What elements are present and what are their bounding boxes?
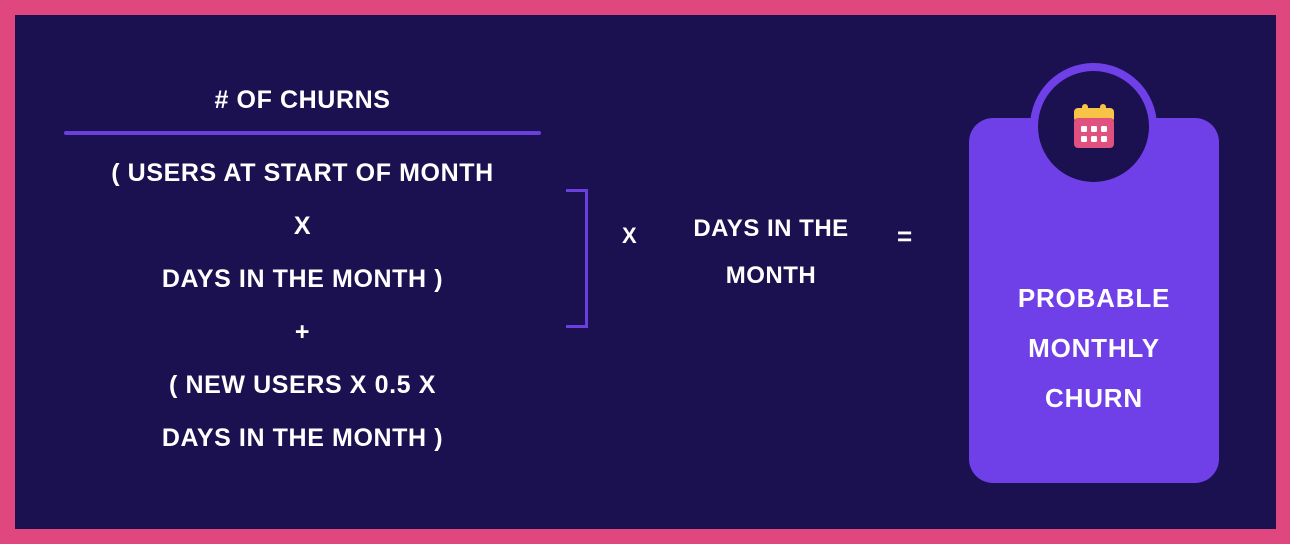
calendar-icon: [1066, 99, 1122, 155]
icon-disc: [1038, 71, 1149, 182]
multiplier-line-2: MONTH: [665, 252, 877, 299]
result-label: PROBABLE MONTHLY CHURN: [969, 273, 1219, 423]
fraction-numerator: # OF CHURNS: [64, 85, 541, 115]
result-panel: PROBABLE MONTHLY CHURN: [969, 63, 1219, 483]
multiplier-line-1: DAYS IN THE: [665, 205, 877, 252]
churn-formula-infographic: # OF CHURNS ( USERS AT START OF MONTH X …: [0, 0, 1290, 544]
closing-bracket: [566, 189, 588, 328]
fraction-divider-line: [64, 131, 541, 135]
result-line-1: PROBABLE: [969, 273, 1219, 323]
result-line-2: MONTHLY: [969, 323, 1219, 373]
result-line-3: CHURN: [969, 373, 1219, 423]
denominator-line-2: X: [64, 200, 541, 253]
icon-ring: [1030, 63, 1157, 190]
denominator-line-1: ( USERS AT START OF MONTH: [64, 147, 541, 200]
denominator-line-5: ( NEW USERS X 0.5 X: [64, 359, 541, 412]
denominator-line-4: +: [64, 306, 541, 359]
infographic-canvas: # OF CHURNS ( USERS AT START OF MONTH X …: [15, 15, 1276, 529]
multiply-operator: X: [622, 223, 637, 249]
denominator-line-6: DAYS IN THE MONTH ): [64, 412, 541, 465]
churn-fraction: # OF CHURNS ( USERS AT START OF MONTH X …: [64, 85, 541, 465]
fraction-denominator: ( USERS AT START OF MONTH X DAYS IN THE …: [64, 147, 541, 465]
days-in-month-multiplier: DAYS IN THE MONTH: [665, 205, 877, 299]
equals-operator: =: [897, 221, 912, 252]
denominator-line-3: DAYS IN THE MONTH ): [64, 253, 541, 306]
